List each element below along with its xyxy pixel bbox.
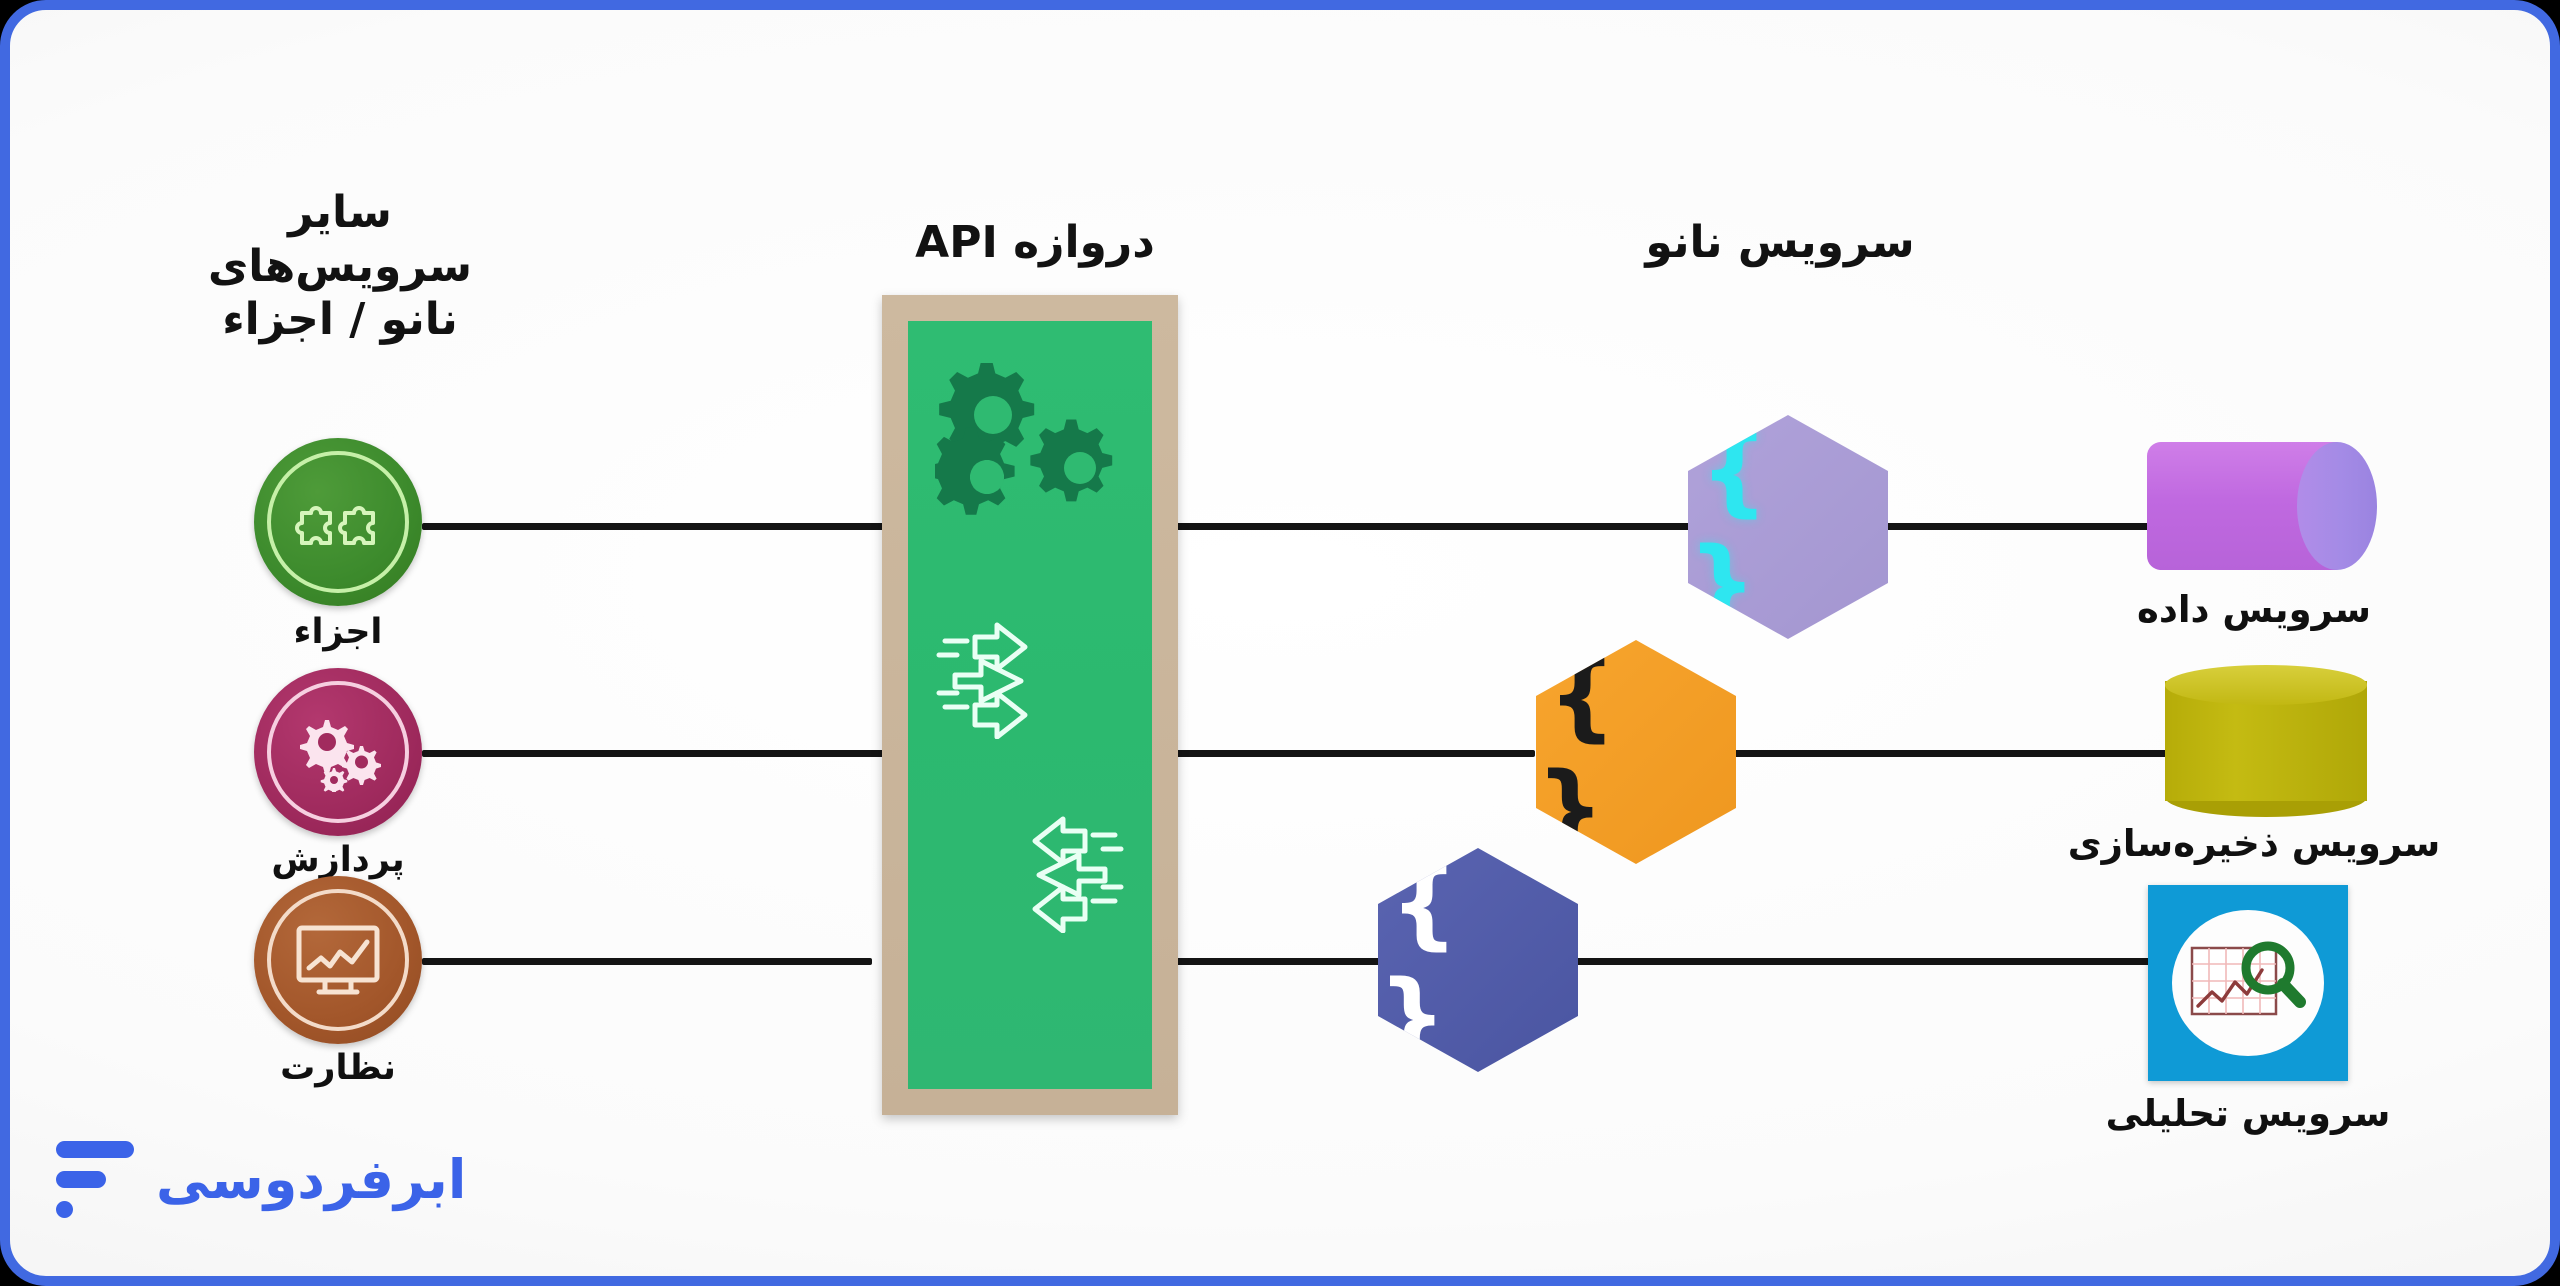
brand-name: ابرفردوسی	[156, 1148, 466, 1211]
diagram-frame: سایر سرویس‌های نانو / اجزاء دروازه API س…	[0, 0, 2560, 1286]
puzzle-pieces-icon	[292, 491, 384, 553]
monitor-chart-icon	[289, 920, 387, 1000]
connector-gw-hex3	[1170, 958, 1380, 965]
brand-logo: ابرفردوسی	[56, 1141, 466, 1218]
node-data-service-label: سرویس داده	[2024, 588, 2484, 631]
nano-service-hex-1[interactable]: { }	[1688, 415, 1888, 639]
gateway-icon-arrows-left-slot	[908, 813, 1152, 933]
column-title-api-gateway: دروازه API	[845, 216, 1225, 270]
braces-glyph: { }	[1378, 848, 1578, 1072]
node-analytics-service[interactable]	[2148, 885, 2348, 1081]
node-monitoring-label: نظارت	[188, 1048, 488, 1088]
node-processing-label: پردازش	[188, 840, 488, 880]
gears-icon	[289, 712, 387, 792]
analytics-search-icon	[2186, 932, 2310, 1034]
arrows-right-icon	[935, 619, 1125, 739]
arrows-left-icon	[935, 813, 1125, 933]
node-components[interactable]	[254, 438, 422, 606]
node-analytics-service-label: سرویس تحلیلی	[2018, 1092, 2478, 1135]
gateway-icon-arrows-right-slot	[908, 619, 1152, 739]
connector-hex2-storage	[1716, 750, 2176, 757]
node-storage-service-label: سرویس ذخیره‌سازی	[2024, 822, 2484, 865]
api-gateway-inner	[908, 321, 1152, 1089]
column-title-nano-service: سرویس نانو	[1550, 216, 2010, 270]
nano-service-hex-2[interactable]: { }	[1536, 640, 1736, 864]
connector-left-row1	[422, 523, 892, 530]
node-monitoring[interactable]	[254, 876, 422, 1044]
analytics-disc	[2172, 910, 2324, 1056]
node-components-label: اجزاء	[188, 612, 488, 652]
connector-gw-hex1	[1170, 523, 1690, 530]
connector-gw-hex2	[1170, 750, 1535, 757]
connector-left-row2	[422, 750, 892, 757]
connector-hex1-data	[1870, 523, 2155, 530]
braces-glyph: { }	[1688, 415, 1888, 639]
api-gateway-panel[interactable]	[882, 295, 1178, 1115]
database-top	[2165, 665, 2367, 705]
column-title-other-services: سایر سرویس‌های نانو / اجزاء	[130, 186, 550, 347]
node-storage-service[interactable]	[2165, 665, 2367, 817]
bars-logo-icon	[56, 1141, 134, 1218]
gateway-icon-gears-slot	[908, 363, 1152, 538]
node-data-service[interactable]	[2147, 442, 2361, 570]
nano-service-hex-3[interactable]: { }	[1378, 848, 1578, 1072]
cylinder-end-cap	[2297, 442, 2377, 570]
gears-cluster-icon	[935, 363, 1125, 538]
braces-glyph: { }	[1536, 640, 1736, 864]
connector-hex3-analytics	[1560, 958, 2160, 965]
connector-left-row3	[422, 958, 872, 965]
node-processing[interactable]	[254, 668, 422, 836]
